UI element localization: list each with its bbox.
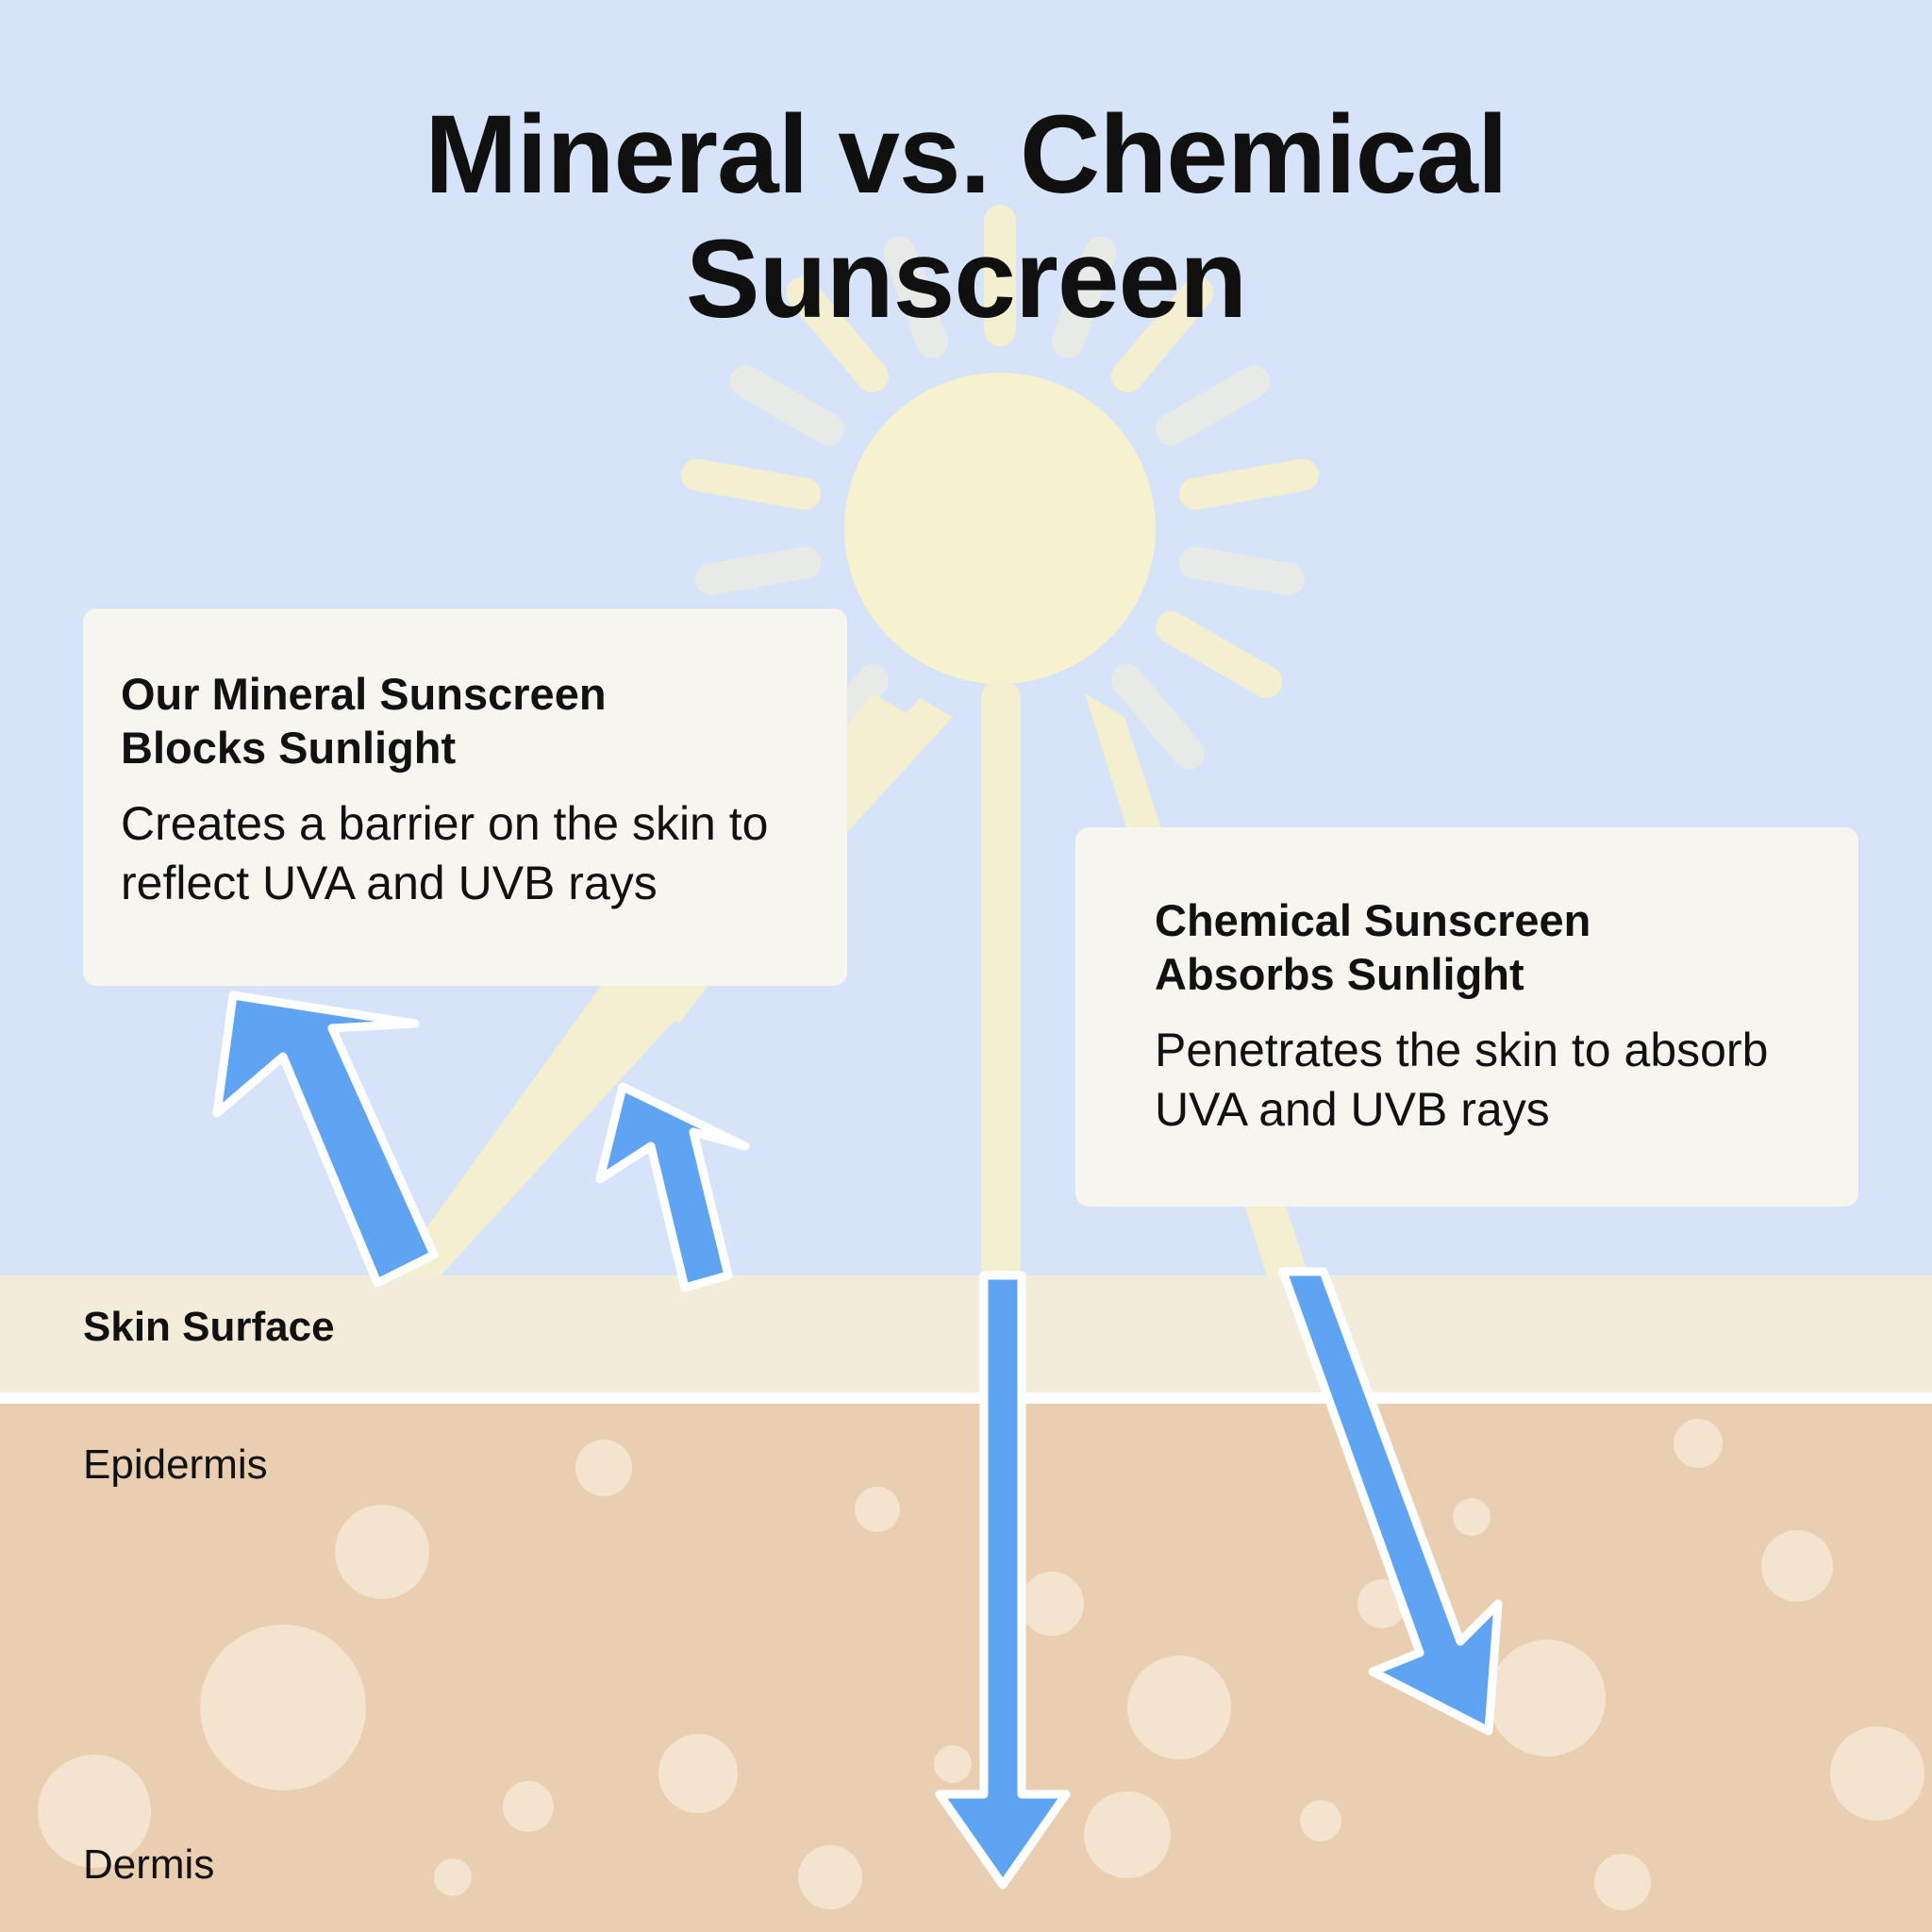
headline-line-1: Mineral vs. Chemical <box>0 92 1932 217</box>
reflected-ray-arrow-up-right <box>600 1087 745 1288</box>
callout-mineral-body: Creates a barrier on the skin to reflect… <box>121 794 819 913</box>
callout-mineral-title: Our Mineral Sunscreen Blocks Sunlight <box>121 667 724 775</box>
headline-line-2: Sunscreen <box>0 217 1932 341</box>
penetrating-ray-arrow-down-right <box>1283 1272 1498 1731</box>
callout-mineral-sunscreen: Our Mineral Sunscreen Blocks Sunlight Cr… <box>83 608 847 986</box>
label-epidermis: Epidermis <box>83 1441 268 1489</box>
callout-chemical-sunscreen: Chemical Sunscreen Absorbs Sunlight Pene… <box>1075 827 1858 1207</box>
label-dermis: Dermis <box>83 1841 214 1889</box>
infographic-canvas: Mineral vs. Chemical Sunscreen Our Miner… <box>0 0 1932 1932</box>
penetrating-ray-arrow-down <box>940 1275 1066 1885</box>
label-skin-surface: Skin Surface <box>83 1304 335 1351</box>
reflected-ray-arrow-up-left <box>217 995 434 1283</box>
page-title: Mineral vs. Chemical Sunscreen <box>0 92 1932 341</box>
callout-chemical-body: Penetrates the skin to absorb UVA and UV… <box>1155 1021 1806 1140</box>
callout-chemical-title: Chemical Sunscreen Absorbs Sunlight <box>1155 893 1758 1002</box>
